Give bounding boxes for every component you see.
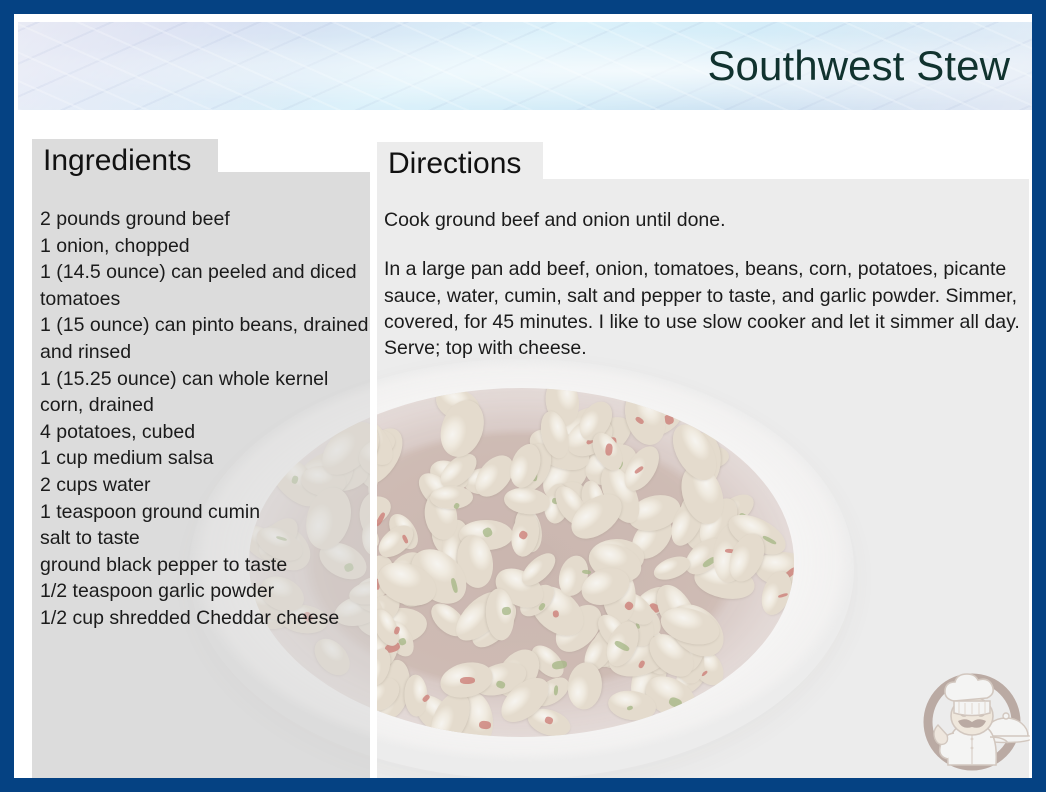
garnish-fleck xyxy=(689,674,697,682)
garnish-fleck xyxy=(623,600,635,611)
bean xyxy=(447,583,513,649)
bowl-contents xyxy=(377,388,794,737)
bean xyxy=(659,594,734,667)
bean xyxy=(377,555,442,614)
bean xyxy=(684,433,721,489)
bean xyxy=(377,606,404,650)
bean xyxy=(430,486,473,510)
bean xyxy=(756,568,794,619)
bean xyxy=(554,552,592,599)
garnish-fleck xyxy=(453,502,461,510)
bean xyxy=(650,552,693,585)
bean xyxy=(431,388,486,427)
bean xyxy=(459,520,512,550)
bean xyxy=(421,490,461,543)
bean xyxy=(687,444,730,471)
bean xyxy=(722,506,791,562)
garnish-fleck xyxy=(663,413,675,426)
garnish-fleck xyxy=(701,670,708,677)
garnish-fleck xyxy=(438,714,444,721)
bean xyxy=(425,597,472,642)
bean xyxy=(517,548,561,591)
bean xyxy=(542,476,590,518)
garnish-fleck xyxy=(553,685,558,696)
garnish-fleck xyxy=(393,626,400,635)
garnish-fleck xyxy=(585,435,597,445)
bean xyxy=(508,510,542,558)
bean xyxy=(468,448,521,503)
ingredient-item: 1/2 cup shredded Cheddar cheese xyxy=(40,605,370,632)
bean xyxy=(675,460,732,530)
bean xyxy=(525,640,569,684)
bean xyxy=(584,537,647,589)
garnish-fleck xyxy=(581,569,591,575)
garnish-fleck xyxy=(502,607,512,616)
bean xyxy=(691,559,757,604)
bean xyxy=(624,643,674,711)
garnish-fleck xyxy=(638,660,646,669)
bean xyxy=(404,675,429,718)
garnish-fleck xyxy=(489,622,502,628)
garnish-fleck xyxy=(544,716,554,725)
bean xyxy=(648,579,705,647)
bean xyxy=(573,396,619,447)
garnish-fleck xyxy=(460,677,475,685)
garnish-fleck xyxy=(634,465,644,474)
bean xyxy=(546,397,621,472)
bean xyxy=(493,670,556,731)
bean xyxy=(537,408,573,461)
garnish-fleck xyxy=(377,606,378,619)
bean xyxy=(453,533,496,591)
bean xyxy=(589,538,645,576)
garnish-fleck xyxy=(702,555,718,569)
bean xyxy=(412,466,462,516)
bean xyxy=(618,441,666,497)
garnish-fleck xyxy=(613,459,625,472)
bean xyxy=(308,632,357,682)
bean xyxy=(592,609,636,656)
bean xyxy=(426,455,474,497)
bean xyxy=(524,704,574,737)
garnish-fleck xyxy=(495,680,506,690)
bean xyxy=(711,488,759,531)
bean xyxy=(512,506,546,555)
garnish-fleck xyxy=(587,436,595,449)
bean xyxy=(542,482,573,526)
ingredient-item: ground black pepper to taste xyxy=(40,552,370,579)
bean xyxy=(489,561,550,615)
bean xyxy=(377,623,380,692)
bean xyxy=(678,532,729,581)
bean xyxy=(593,460,646,528)
garnish-fleck xyxy=(402,534,409,543)
bean xyxy=(657,601,724,651)
bean xyxy=(710,521,752,584)
garnish-fleck xyxy=(614,640,631,653)
ingredient-item: salt to taste xyxy=(40,525,370,552)
garnish-fleck xyxy=(597,502,613,514)
bean xyxy=(377,418,384,472)
garnish-fleck xyxy=(479,721,492,730)
bean xyxy=(666,626,709,686)
ingredient-item: 1 (14.5 ounce) can peeled and diced toma… xyxy=(40,259,370,312)
bean xyxy=(448,689,495,737)
bean xyxy=(503,485,552,516)
bean xyxy=(534,439,600,509)
chef-logo-icon xyxy=(914,659,1030,775)
garnish-fleck xyxy=(605,443,613,456)
bean xyxy=(559,410,618,464)
bean xyxy=(587,428,628,476)
bean xyxy=(377,508,386,557)
bean xyxy=(524,421,596,478)
bean xyxy=(425,513,470,563)
bean xyxy=(400,538,477,615)
bean xyxy=(383,509,424,554)
garnish-fleck xyxy=(530,464,538,480)
bean xyxy=(630,581,677,621)
garnish-fleck xyxy=(647,602,660,614)
bean xyxy=(665,493,711,551)
bean xyxy=(377,645,395,688)
garnish-fleck xyxy=(627,705,634,711)
bean xyxy=(597,582,663,654)
bean xyxy=(514,579,559,623)
garnish-fleck xyxy=(678,653,686,658)
bean xyxy=(754,550,794,588)
garnish-fleck xyxy=(377,512,386,527)
garnish-fleck xyxy=(461,613,466,627)
bean xyxy=(600,617,644,671)
bean xyxy=(604,629,676,684)
page-title: Southwest Stew xyxy=(707,45,1010,87)
garnish-fleck xyxy=(688,605,695,621)
bean xyxy=(377,671,405,719)
bean xyxy=(529,672,573,711)
bowl-of-beans-photo xyxy=(377,359,854,779)
garnish-fleck xyxy=(491,483,497,493)
bean xyxy=(563,485,629,547)
bean xyxy=(612,586,659,631)
ingredient-item: 2 pounds ground beef xyxy=(40,206,370,233)
garnish-fleck xyxy=(552,498,560,506)
bean xyxy=(377,653,378,705)
bean xyxy=(692,492,745,554)
bean xyxy=(685,644,730,692)
bean xyxy=(606,688,658,724)
bean xyxy=(377,421,412,494)
bean xyxy=(379,616,419,661)
bean xyxy=(669,651,714,699)
bean xyxy=(377,440,381,502)
directions-heading-label: Directions xyxy=(388,147,521,181)
garnish-fleck xyxy=(518,529,529,540)
bean xyxy=(664,417,725,488)
bean xyxy=(379,545,432,598)
bean xyxy=(624,490,684,537)
garnish-fleck xyxy=(398,637,407,646)
ingredient-item: 1 onion, chopped xyxy=(40,233,370,260)
bean xyxy=(435,447,482,493)
bean xyxy=(462,465,504,496)
ingredient-item: 1 teaspoon ground cumin xyxy=(40,499,370,526)
garnish-fleck xyxy=(422,693,431,702)
bean xyxy=(377,657,414,721)
bean xyxy=(639,668,703,726)
bean xyxy=(377,623,402,672)
bean xyxy=(424,685,478,737)
garnish-fleck xyxy=(377,579,380,590)
bean xyxy=(543,388,582,427)
garnish-fleck xyxy=(739,512,750,522)
bean xyxy=(616,620,671,659)
bean xyxy=(377,519,420,564)
garnish-fleck xyxy=(482,526,494,538)
bean xyxy=(571,409,638,468)
garnish-fleck xyxy=(610,437,617,445)
bean xyxy=(549,481,593,531)
bean xyxy=(521,577,593,646)
bean xyxy=(377,588,406,634)
garnish-fleck xyxy=(654,681,661,688)
garnish-fleck xyxy=(762,535,777,545)
garnish-fleck xyxy=(783,566,794,580)
bean xyxy=(578,626,622,676)
bean xyxy=(508,439,558,497)
garnish-fleck xyxy=(635,416,645,425)
bean xyxy=(377,616,380,656)
bowl-rim xyxy=(377,359,854,779)
direction-paragraph: Cook ground beef and onion until done. xyxy=(384,207,1028,233)
bean xyxy=(408,687,465,737)
bean xyxy=(464,594,523,654)
bean xyxy=(579,479,608,521)
direction-paragraph: In a large pan add beef, onion, tomatoes… xyxy=(384,256,1028,361)
ingredient-item: 1 (15.25 ounce) can whole kernel corn, d… xyxy=(40,366,370,419)
bean xyxy=(377,490,396,533)
bean xyxy=(377,633,389,703)
bean xyxy=(505,441,546,492)
bean xyxy=(547,597,610,661)
ingredient-item: 4 potatoes, cubed xyxy=(40,419,370,446)
bean xyxy=(441,519,473,574)
bean xyxy=(484,587,516,640)
directions-text: Cook ground beef and onion until done.In… xyxy=(384,207,1028,361)
garnish-fleck xyxy=(552,610,559,618)
bean xyxy=(565,660,603,710)
garnish-fleck xyxy=(725,548,735,553)
bean xyxy=(389,550,452,614)
ingredient-item: 1/2 teaspoon garlic powder xyxy=(40,578,370,605)
bean xyxy=(633,397,688,444)
bean xyxy=(589,626,623,670)
bean xyxy=(470,656,531,701)
bean xyxy=(433,394,491,462)
bean xyxy=(577,562,635,611)
garnish-fleck xyxy=(668,696,683,709)
bean xyxy=(723,529,771,587)
ingredient-item: 1 (15 ounce) can pinto beans, drained an… xyxy=(40,312,370,365)
bean xyxy=(593,613,650,674)
bean xyxy=(578,436,643,493)
bean xyxy=(377,636,390,681)
bean xyxy=(602,567,637,623)
garnish-fleck xyxy=(551,660,567,670)
garnish-fleck xyxy=(538,602,547,612)
bean xyxy=(377,573,395,642)
bean xyxy=(437,657,496,702)
ingredients-panel: 2 pounds ground beef1 onion, chopped1 (1… xyxy=(32,172,370,792)
bean xyxy=(377,426,396,462)
garnish-fleck xyxy=(384,640,401,653)
bean xyxy=(674,492,717,554)
bean xyxy=(641,626,701,685)
ingredient-item: 1 cup medium salsa xyxy=(40,445,370,472)
recipe-card: Southwest Stew Ingredients Directions 2 … xyxy=(0,0,1046,792)
directions-section-header: Directions xyxy=(377,142,543,185)
ingredients-section-header: Ingredients xyxy=(32,139,218,182)
bean xyxy=(377,605,429,647)
bean xyxy=(671,617,704,665)
bean xyxy=(619,388,672,449)
garnish-fleck xyxy=(635,622,640,628)
garnish-fleck xyxy=(427,580,437,594)
bean xyxy=(624,509,680,566)
bean xyxy=(377,405,401,472)
bean xyxy=(488,642,548,705)
title-banner: Southwest Stew xyxy=(18,22,1032,110)
bean xyxy=(622,597,667,643)
bean xyxy=(673,620,708,673)
garnish-fleck xyxy=(778,592,788,598)
bean xyxy=(377,550,401,607)
bean xyxy=(490,651,541,700)
garnish-fleck xyxy=(450,578,458,594)
bean xyxy=(631,622,678,679)
ingredients-heading-label: Ingredients xyxy=(43,144,191,178)
ingredients-list: 2 pounds ground beef1 onion, chopped1 (1… xyxy=(40,206,370,632)
ingredient-item: 2 cups water xyxy=(40,472,370,499)
bean xyxy=(377,618,404,647)
